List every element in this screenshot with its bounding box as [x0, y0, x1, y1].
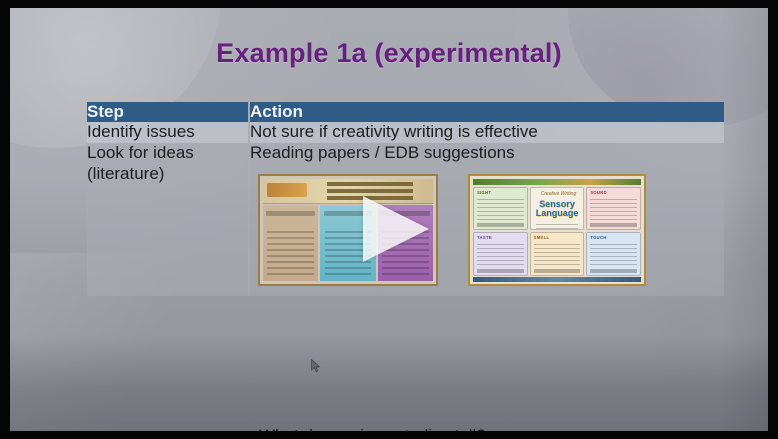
sensory-language-poster-image: SIGHT Creative Writing Sensory Language — [468, 174, 646, 286]
cell-step-identify-issues: Identify issues — [87, 122, 249, 143]
table-row: Identify issues Not sure if creativity w… — [87, 122, 724, 143]
cell-action-identify-issues: Not sure if creativity writing is effect… — [249, 122, 724, 143]
video-dim-overlay-bottom — [10, 335, 768, 431]
video-player[interactable]: Example 1a (experimental) Step Action Id… — [0, 0, 778, 439]
poster-right-bottom-bar — [473, 277, 641, 282]
poster-script-label: Creative Writing — [541, 191, 577, 197]
cell-action-look-for-ideas: Reading papers / EDB suggestions — [249, 143, 724, 296]
poster-title-line2: Language — [531, 209, 584, 218]
table-header-row: Step Action — [87, 102, 724, 122]
action-text-reading-papers: Reading papers / EDB suggestions — [250, 143, 724, 164]
sensory-panel-taste: TASTE — [473, 232, 528, 276]
poster-left-logo — [267, 183, 307, 197]
sensory-panel-sight: SIGHT — [473, 187, 528, 231]
poster-images-row: SIGHT Creative Writing Sensory Language — [250, 174, 724, 286]
poster-panel-tan — [263, 205, 318, 281]
sensory-panel-touch-label: TOUCH — [590, 235, 606, 240]
poster-right-panels: SIGHT Creative Writing Sensory Language — [473, 187, 641, 276]
sensory-panel-sight-label: SIGHT — [477, 190, 491, 195]
sensory-panel-smell: SMELL — [530, 232, 585, 276]
closing-question-text: What do previous studies tell? — [259, 426, 486, 431]
column-header-step: Step — [87, 102, 249, 122]
sensory-panel-touch: TOUCH — [586, 232, 641, 276]
sensory-panel-sound: SOUND — [586, 187, 641, 231]
poster-right-top-bar — [473, 179, 641, 185]
video-dim-overlay-right — [720, 8, 768, 431]
column-header-action: Action — [249, 102, 724, 122]
sensory-panel-title: Creative Writing Sensory Language — [530, 187, 585, 231]
play-triangle-icon[interactable] — [363, 196, 429, 262]
page-title: Example 1a (experimental) — [10, 38, 768, 69]
cell-step-look-for-ideas: Look for ideas (literature) — [87, 143, 249, 296]
sensory-panel-taste-label: TASTE — [477, 235, 492, 240]
sensory-panel-sound-label: SOUND — [590, 190, 607, 195]
sensory-panel-smell-label: SMELL — [534, 235, 550, 240]
